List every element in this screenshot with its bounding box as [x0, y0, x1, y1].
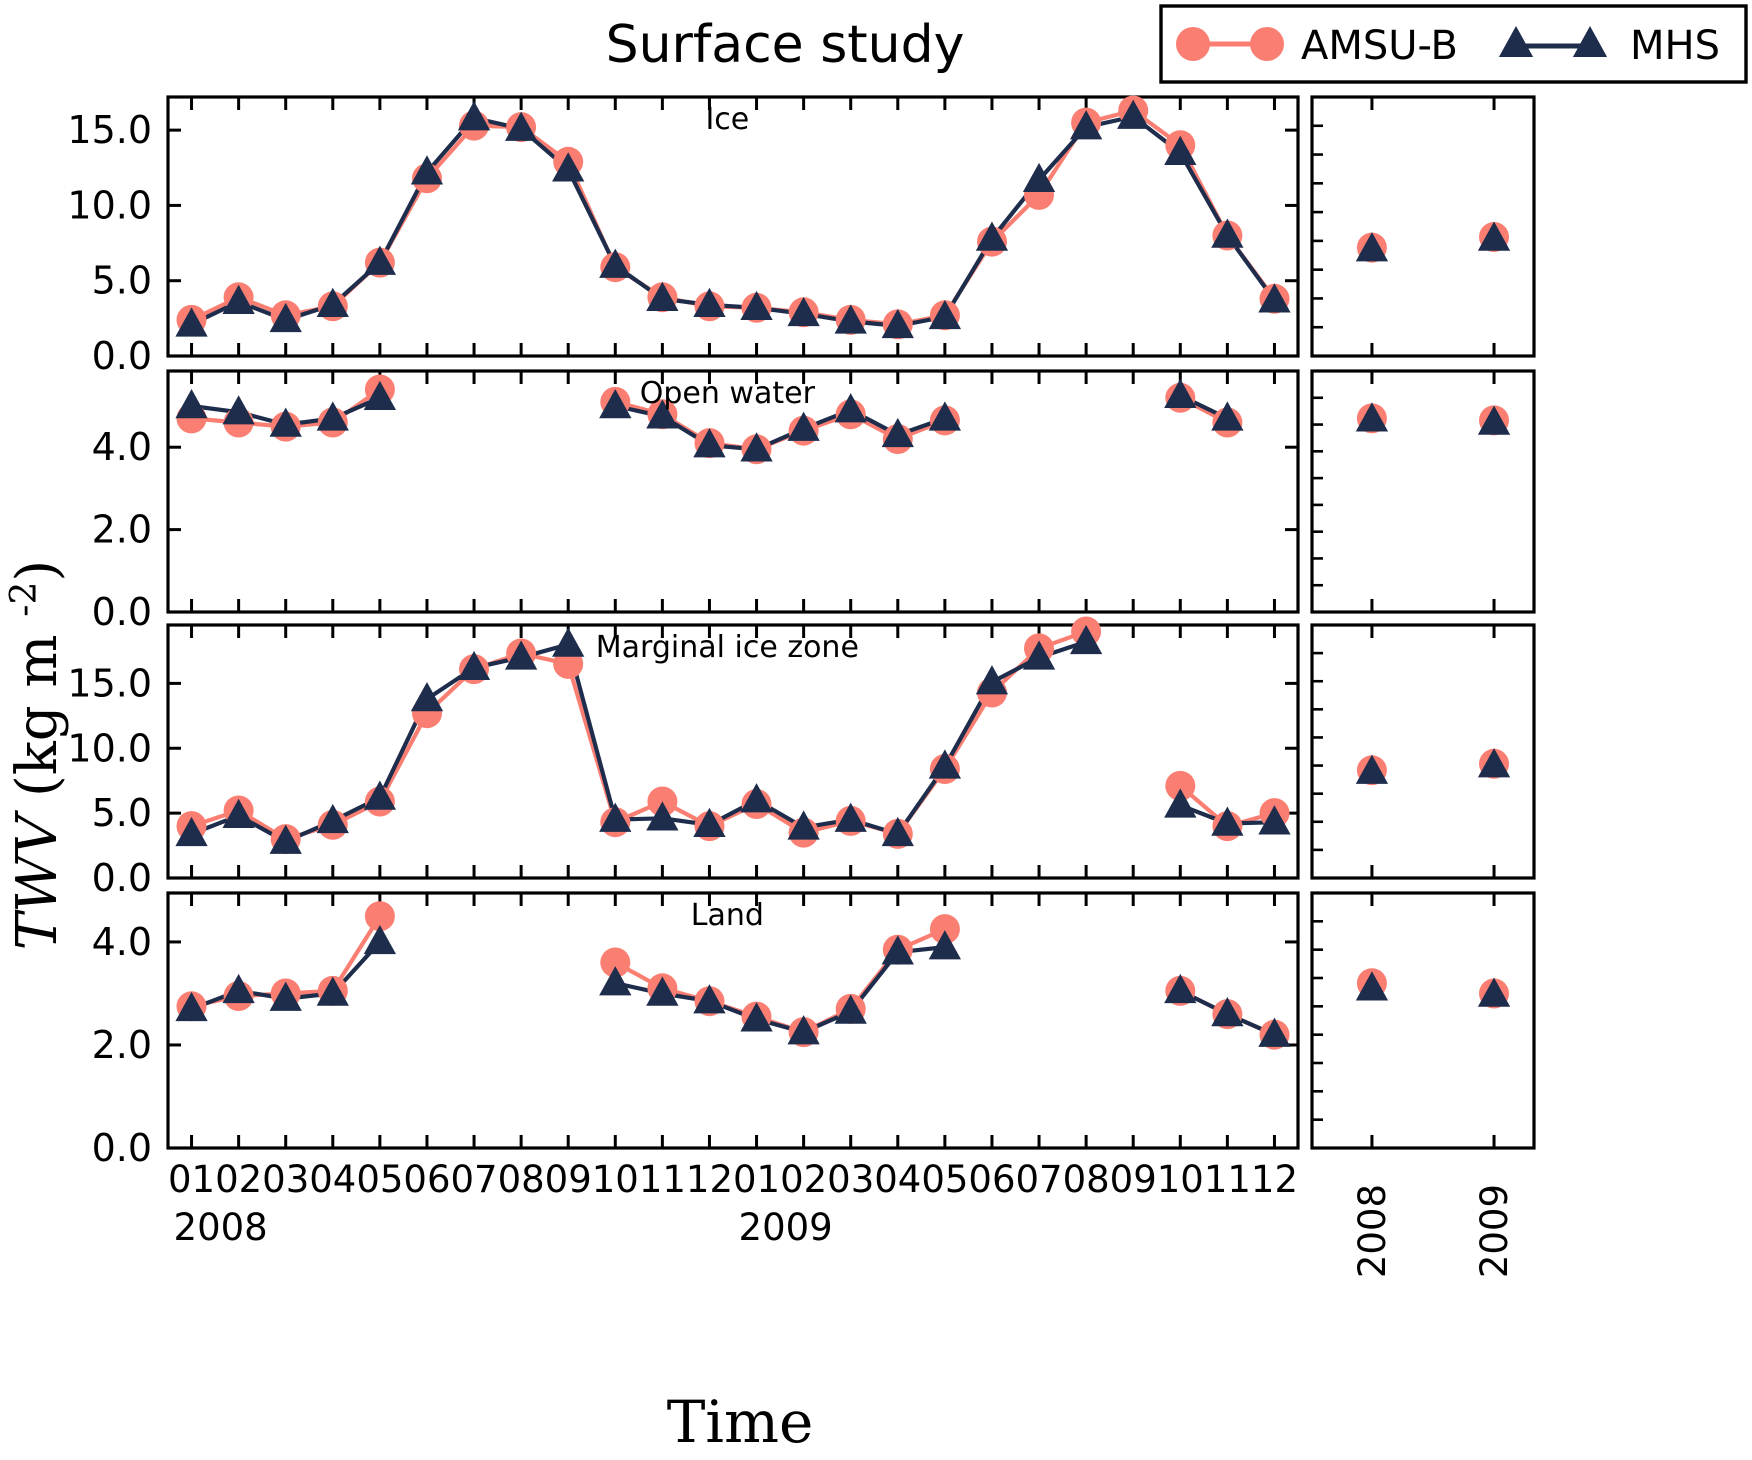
right-x-year-label: 2009	[1473, 1184, 1516, 1278]
panel-title: Ice	[705, 102, 749, 137]
x-tick-label-month: 10	[592, 1158, 639, 1201]
y-tick-label: 5.0	[92, 259, 152, 303]
x-axis-label: Time	[667, 1388, 814, 1456]
x-tick-label-month: 04	[874, 1158, 921, 1201]
y-tick-label: 4.0	[92, 920, 152, 964]
x-tick-label-month: 03	[262, 1158, 309, 1201]
x-tick-label-month: 03	[827, 1158, 874, 1201]
y-axis-label: TWV (kg m -2)	[4, 560, 71, 950]
x-tick-label-month: 08	[1063, 1158, 1110, 1201]
panel-ice: 0.05.010.015.0Ice	[67, 96, 1534, 378]
panel-title: Marginal ice zone	[596, 630, 859, 665]
panel-title: Land	[691, 898, 764, 933]
x-tick-label-month: 11	[639, 1158, 686, 1201]
figure-root: 0.05.010.015.0Ice0.02.04.0Open water0.05…	[0, 0, 1752, 1460]
legend-label-amsub: AMSU-B	[1301, 23, 1458, 69]
right-x-year-label: 2008	[1351, 1184, 1394, 1278]
y-tick-label: 2.0	[92, 508, 152, 552]
x-tick-label-month: 04	[309, 1158, 356, 1201]
y-tick-label: 0.0	[92, 590, 152, 634]
x-tick-label-month: 07	[1015, 1158, 1062, 1201]
x-tick-label-month: 10	[1157, 1158, 1204, 1201]
legend-marker-amsub	[1176, 27, 1210, 61]
series-line-AMSU-B	[192, 111, 1275, 325]
panel-marginal-ice-zone: 0.05.010.015.0Marginal ice zone	[67, 617, 1534, 901]
x-tick-label-month: 01	[168, 1158, 215, 1201]
y-tick-label: 0.0	[92, 334, 152, 378]
x-tick-label-month: 01	[733, 1158, 780, 1201]
y-tick-label: 0.0	[92, 856, 152, 900]
panel-land: 0.02.04.0Land	[92, 893, 1534, 1170]
x-tick-label-month: 02	[215, 1158, 262, 1201]
x-axis-year-2008: 2008	[174, 1206, 268, 1249]
panel-title: Open water	[640, 376, 816, 411]
data-point-MHS	[175, 389, 207, 418]
y-tick-label: 10.0	[67, 726, 152, 770]
x-tick-label-month: 11	[1204, 1158, 1251, 1201]
x-tick-label-month: 05	[356, 1158, 403, 1201]
x-tick-label-month: 05	[921, 1158, 968, 1201]
x-tick-label-month: 09	[1110, 1158, 1157, 1201]
y-tick-label: 5.0	[92, 791, 152, 835]
data-point-MHS	[411, 682, 443, 711]
page-title: Surface study	[606, 15, 965, 75]
y-tick-label: 4.0	[92, 425, 152, 469]
right-axes-frame	[1312, 893, 1534, 1148]
y-tick-label: 10.0	[67, 183, 152, 227]
legend-label-mhs: MHS	[1630, 23, 1720, 69]
svg-text:TWV (kg m -2): TWV (kg m -2)	[4, 560, 71, 950]
x-tick-label-month: 06	[403, 1158, 450, 1201]
x-tick-label-month: 02	[780, 1158, 827, 1201]
y-tick-label: 2.0	[92, 1023, 152, 1067]
series-line-MHS	[192, 117, 1275, 326]
panel-open-water: 0.02.04.0Open water	[92, 371, 1534, 634]
x-axis-year-2009: 2009	[739, 1206, 833, 1249]
x-tick-label-month: 12	[1251, 1158, 1298, 1201]
x-tick-label-month: 08	[498, 1158, 545, 1201]
y-tick-label: 15.0	[67, 661, 152, 705]
surface-study-figure: 0.05.010.015.0Ice0.02.04.0Open water0.05…	[0, 0, 1752, 1460]
x-tick-label-month: 09	[545, 1158, 592, 1201]
legend-marker-amsub	[1250, 27, 1284, 61]
x-tick-label-month: 06	[968, 1158, 1015, 1201]
y-tick-label: 0.0	[92, 1126, 152, 1170]
data-point-MHS	[364, 925, 396, 954]
legend: AMSU-BMHS	[1161, 6, 1746, 82]
x-tick-label-month: 07	[450, 1158, 497, 1201]
y-tick-label: 15.0	[67, 108, 152, 152]
data-point-MHS	[552, 627, 584, 656]
x-tick-label-month: 12	[686, 1158, 733, 1201]
